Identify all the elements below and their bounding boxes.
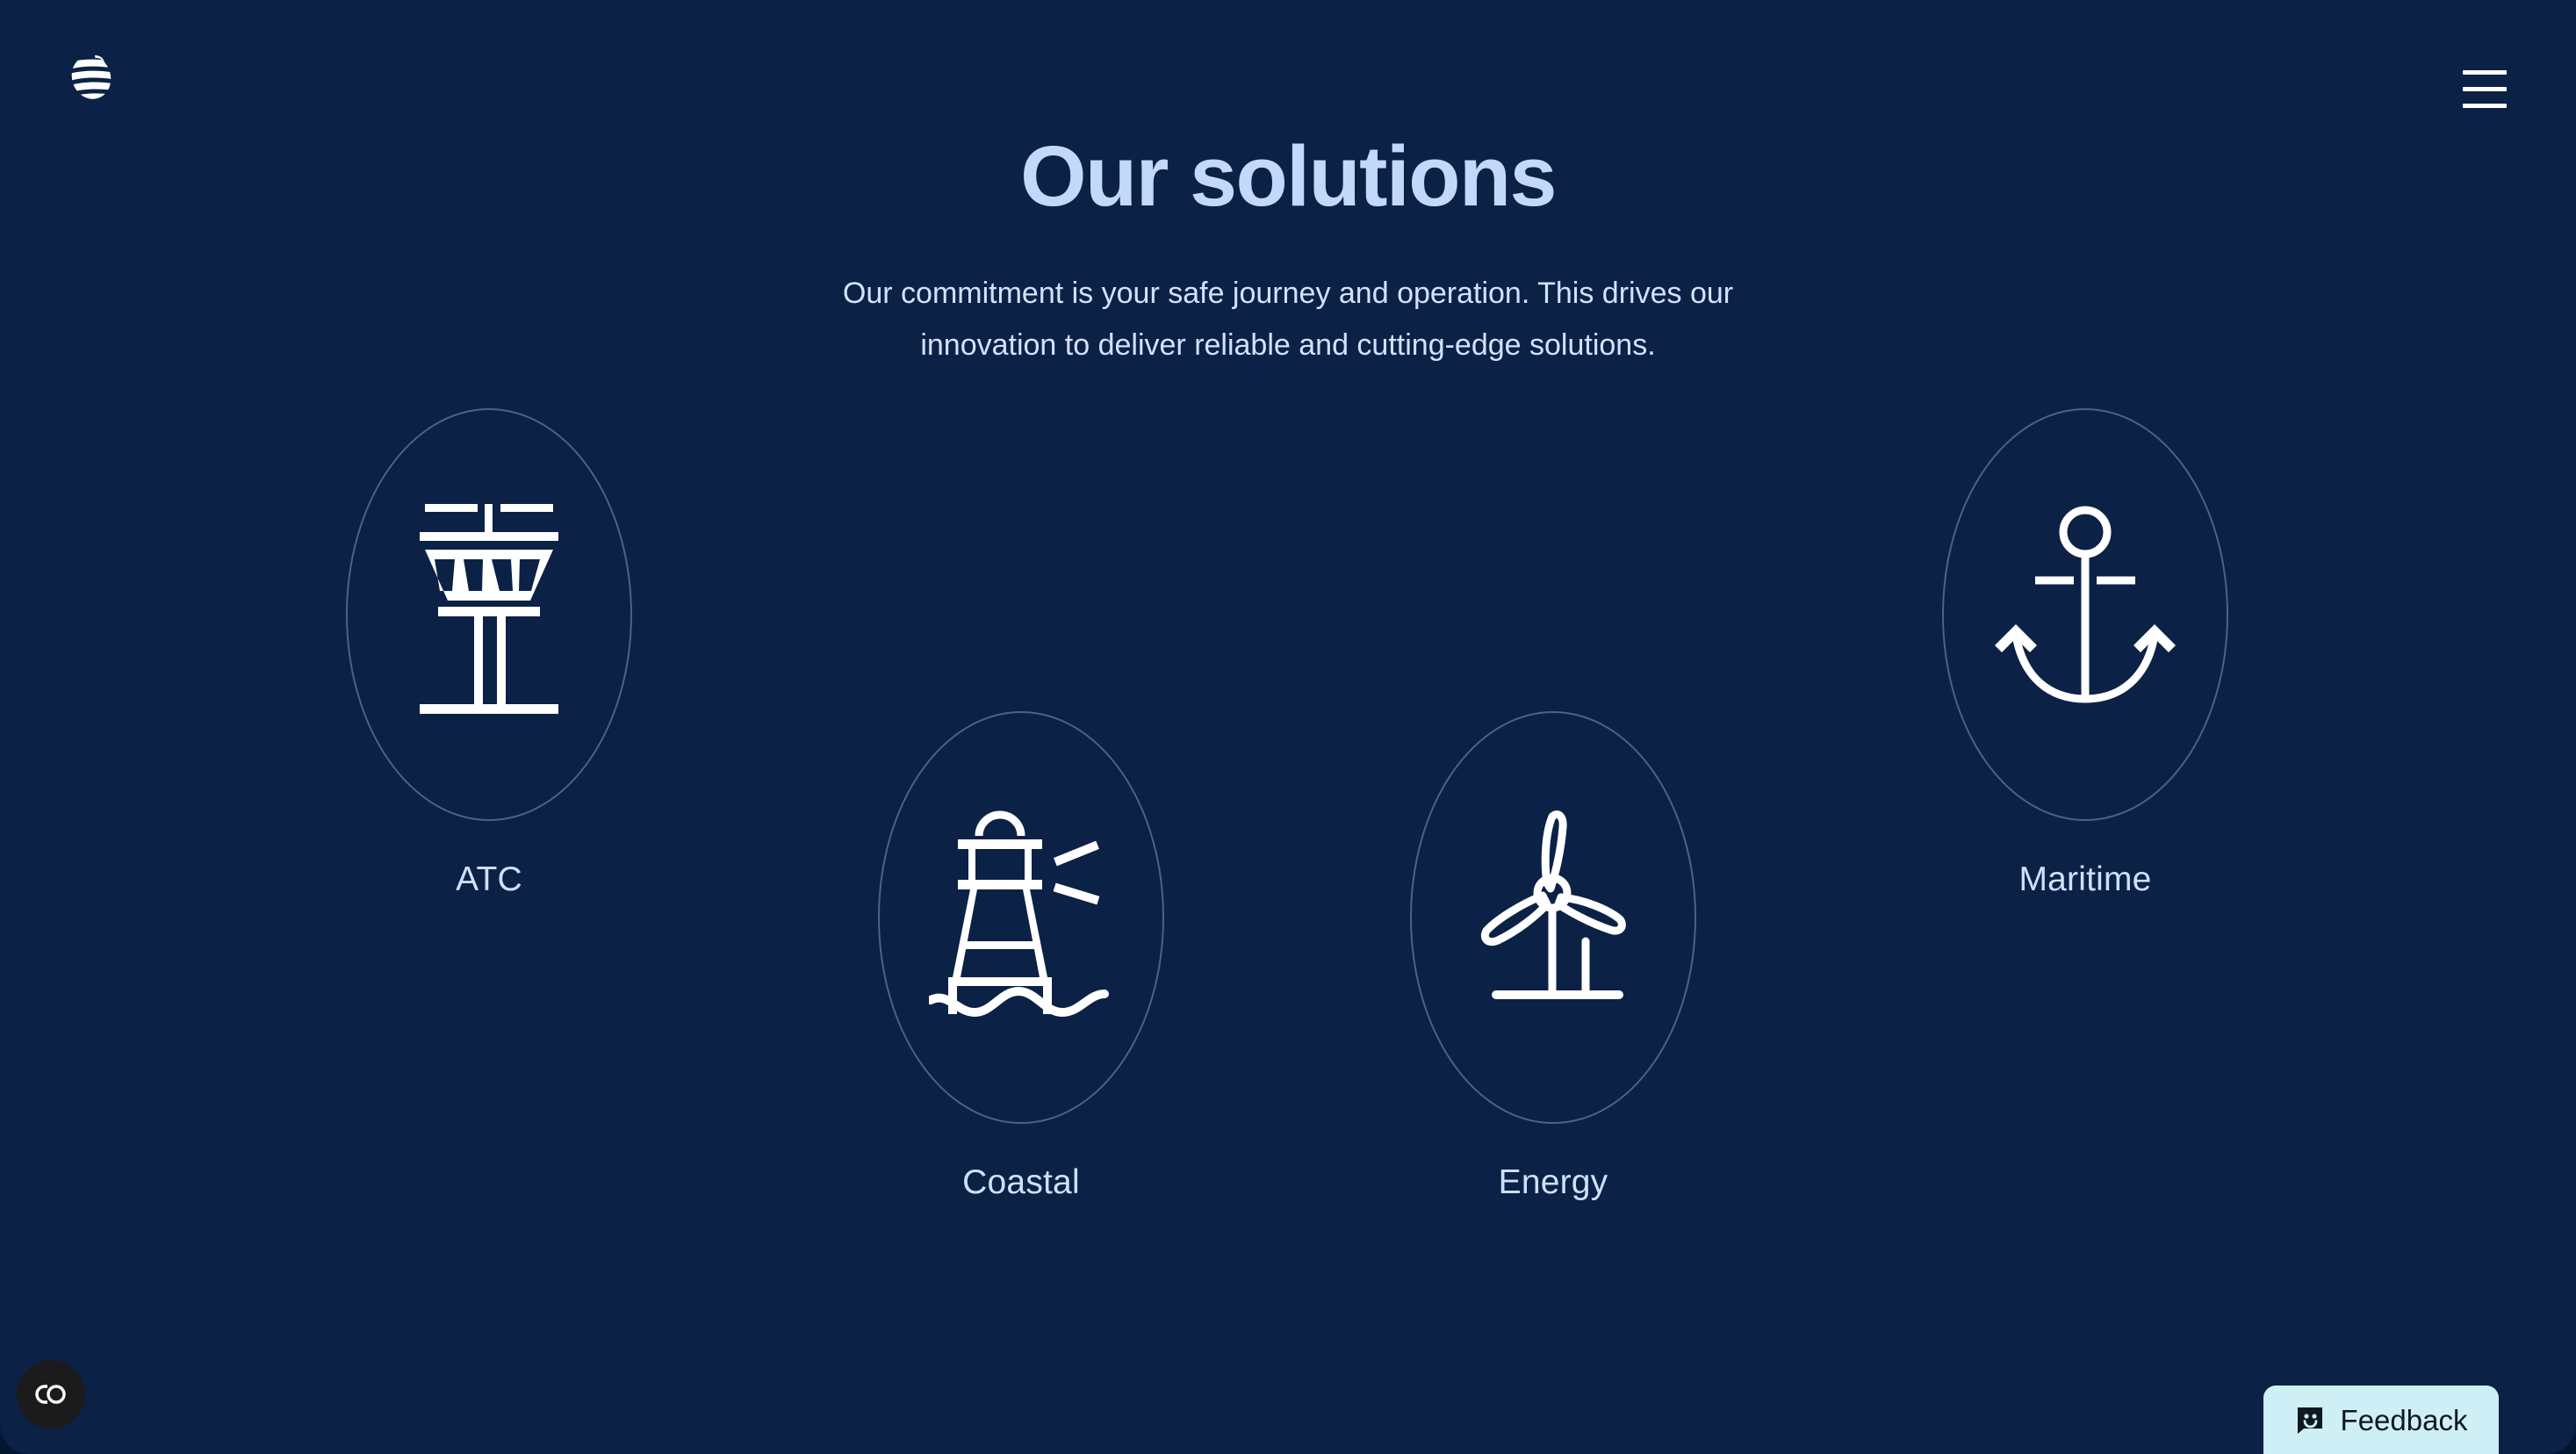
feedback-button[interactable]: Feedback (2263, 1386, 2499, 1454)
solution-card-label: Maritime (2018, 860, 2151, 901)
hero-section: Our solutions Our commitment is your saf… (717, 132, 1859, 372)
menu-bar-bottom (2463, 104, 2507, 108)
solution-card-coastal[interactable]: Coastal (878, 711, 1164, 1204)
hamburger-menu-button[interactable] (2436, 49, 2534, 128)
consent-toggle-icon (31, 1374, 71, 1414)
solution-card-atc[interactable]: ATC (346, 408, 632, 901)
solution-card-oval (1410, 711, 1696, 1124)
hero-subtitle: Our commitment is your safe journey and … (831, 268, 1745, 372)
solution-card-maritime[interactable]: Maritime (1942, 408, 2228, 901)
lighthouse-icon (929, 808, 1113, 1027)
solution-card-label: Energy (1499, 1162, 1608, 1204)
feedback-label: Feedback (2341, 1406, 2468, 1435)
menu-bar-middle (2463, 87, 2507, 91)
feedback-smiley-icon (2295, 1405, 2325, 1435)
page-root: Our solutions Our commitment is your saf… (0, 0, 2576, 1454)
solution-card-oval (1942, 408, 2228, 821)
globe-logo-icon (63, 48, 119, 104)
solution-card-oval (878, 711, 1164, 1124)
solution-card-oval (346, 408, 632, 821)
brand-logo-link[interactable] (63, 48, 119, 104)
solution-card-energy[interactable]: Energy (1410, 711, 1696, 1204)
menu-bar-top (2463, 70, 2507, 75)
wind-turbine-icon (1459, 808, 1648, 1027)
site-header (0, 0, 2576, 167)
solution-card-label: Coastal (962, 1162, 1080, 1204)
cookie-consent-button[interactable] (17, 1360, 85, 1429)
control-tower-icon (406, 500, 572, 729)
anchor-icon (1984, 505, 2186, 724)
solution-card-label: ATC (456, 860, 522, 901)
